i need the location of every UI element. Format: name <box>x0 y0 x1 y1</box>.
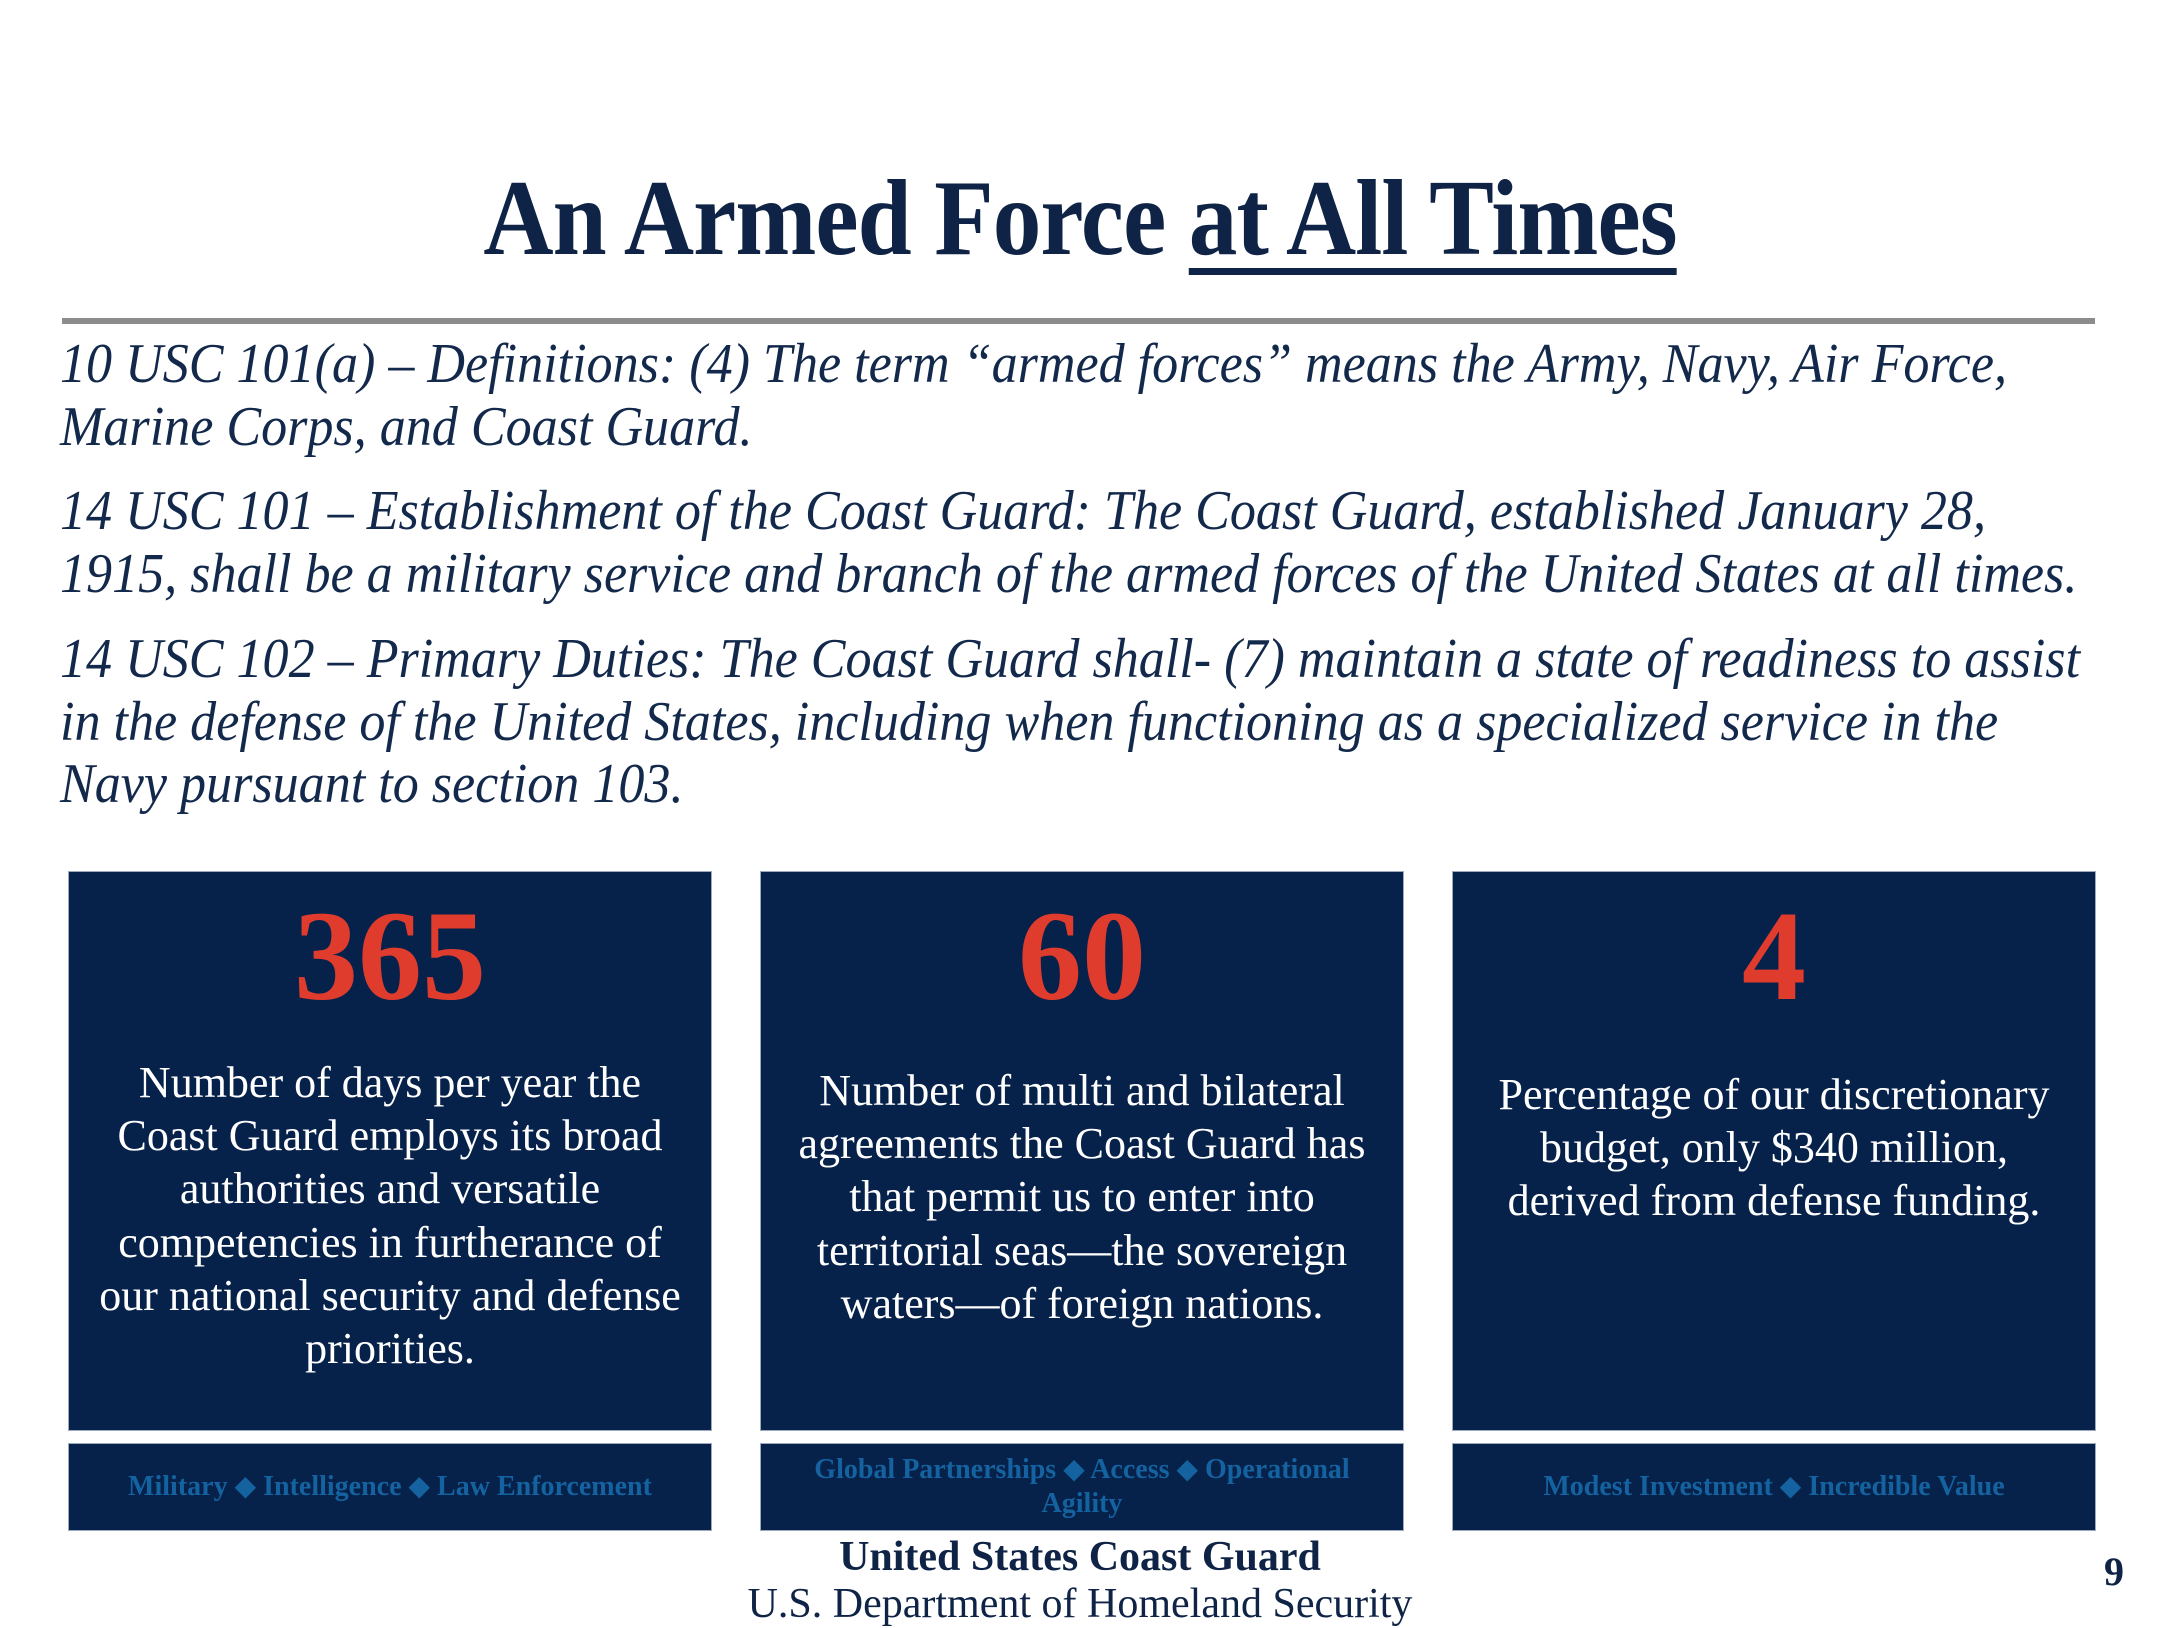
caption-row: Military ◆ Intelligence ◆ Law Enforcemen… <box>68 1443 2096 1531</box>
footer-organization: United States Coast Guard <box>0 1534 2160 1581</box>
statute-paragraph-10usc101a: 10 USC 101(a) – Definitions: (4) The ter… <box>60 333 2109 458</box>
caption-bar-modest-investment: Modest Investment ◆ Incredible Value <box>1452 1443 2096 1531</box>
stat-card-365: 365 Number of days per year the Coast Gu… <box>68 871 712 1431</box>
stat-description-4: Percentage of our discretionary budget, … <box>1479 1068 2069 1228</box>
page-title-plain: An Armed Force <box>483 159 1188 278</box>
footer-department: U.S. Department of Homeland Security <box>0 1581 2160 1628</box>
caption-bar-global-partnerships: Global Partnerships ◆ Access ◆ Operation… <box>760 1443 1404 1531</box>
stat-description-365: Number of days per year the Coast Guard … <box>95 1056 685 1375</box>
stat-number-4: 4 <box>1742 892 1806 1020</box>
statute-text-block: 10 USC 101(a) – Definitions: (4) The ter… <box>60 333 2110 838</box>
statute-paragraph-14usc102: 14 USC 102 – Primary Duties: The Coast G… <box>60 628 2109 816</box>
stat-card-4: 4 Percentage of our discretionary budget… <box>1452 871 2096 1431</box>
statistics-row: 365 Number of days per year the Coast Gu… <box>68 871 2096 1431</box>
stat-number-60: 60 <box>1018 892 1146 1020</box>
stat-card-60: 60 Number of multi and bilateral agreeme… <box>760 871 1404 1431</box>
racing-stripe-red <box>0 0 10 330</box>
page-title-underlined: at All Times <box>1189 159 1677 278</box>
page-number: 9 <box>2104 1548 2124 1595</box>
title-divider <box>62 318 2095 324</box>
stat-number-365: 365 <box>294 892 486 1020</box>
caption-bar-military: Military ◆ Intelligence ◆ Law Enforcemen… <box>68 1443 712 1531</box>
statute-paragraph-14usc101: 14 USC 101 – Establishment of the Coast … <box>60 480 2109 605</box>
stat-description-60: Number of multi and bilateral agreements… <box>787 1064 1377 1330</box>
footer: United States Coast Guard U.S. Departmen… <box>0 1534 2160 1628</box>
page-title: An Armed Force at All Times <box>108 162 2052 275</box>
